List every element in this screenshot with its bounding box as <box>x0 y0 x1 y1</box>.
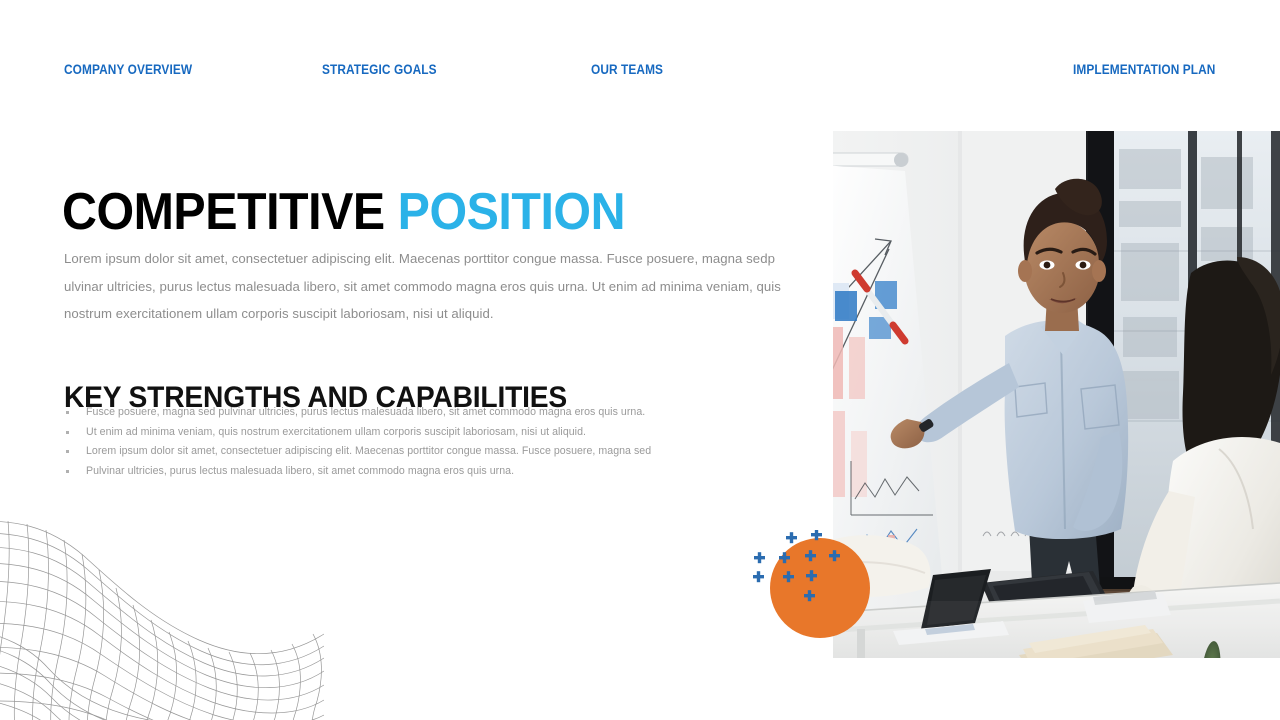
list-item-label: Ut enim ad minima veniam, quis nostrum e… <box>86 426 586 438</box>
list-item-label: Fusce posuere, magna sed pulvinar ultric… <box>86 406 645 418</box>
key-strengths-list: Fusce posuere, magna sed pulvinar ultric… <box>64 403 764 482</box>
list-item-label: Pulvinar ultricies, purus lectus malesua… <box>86 465 514 477</box>
slide-canvas: COMPANY OVERVIEW STRATEGIC GOALS OUR TEA… <box>0 0 1280 720</box>
plus-icon <box>753 571 764 582</box>
orange-circle-decoration <box>770 538 870 638</box>
page-title-primary: COMPETITIVE <box>62 183 385 241</box>
list-item: Lorem ipsum dolor sit amet, consectetuer… <box>64 442 764 462</box>
list-item: Pulvinar ultricies, purus lectus malesua… <box>64 462 764 482</box>
wire-mesh-decoration <box>0 508 324 720</box>
list-item: Ut enim ad minima veniam, quis nostrum e… <box>64 423 764 443</box>
bullet-marker-icon <box>66 431 69 434</box>
bullet-marker-icon <box>66 450 69 453</box>
bullet-marker-icon <box>66 470 69 473</box>
nav-item-company-overview[interactable]: COMPANY OVERVIEW <box>64 61 192 79</box>
bullet-marker-icon <box>66 411 69 414</box>
plus-icon <box>786 532 797 543</box>
meeting-photo <box>833 131 1280 658</box>
intro-paragraph: Lorem ipsum dolor sit amet, consectetuer… <box>64 245 786 328</box>
top-navigation: COMPANY OVERVIEW STRATEGIC GOALS OUR TEA… <box>0 61 1280 85</box>
nav-item-our-teams[interactable]: OUR TEAMS <box>591 61 663 79</box>
nav-item-implementation-plan[interactable]: IMPLEMENTATION PLAN <box>1073 61 1215 79</box>
nav-item-strategic-goals[interactable]: STRATEGIC GOALS <box>322 61 437 79</box>
page-title-accent: POSITION <box>398 183 625 241</box>
page-title: COMPETITIVE POSITION <box>62 183 625 241</box>
plus-icon <box>754 552 765 563</box>
list-item-label: Lorem ipsum dolor sit amet, consectetuer… <box>86 445 651 457</box>
list-item: Fusce posuere, magna sed pulvinar ultric… <box>64 403 764 423</box>
